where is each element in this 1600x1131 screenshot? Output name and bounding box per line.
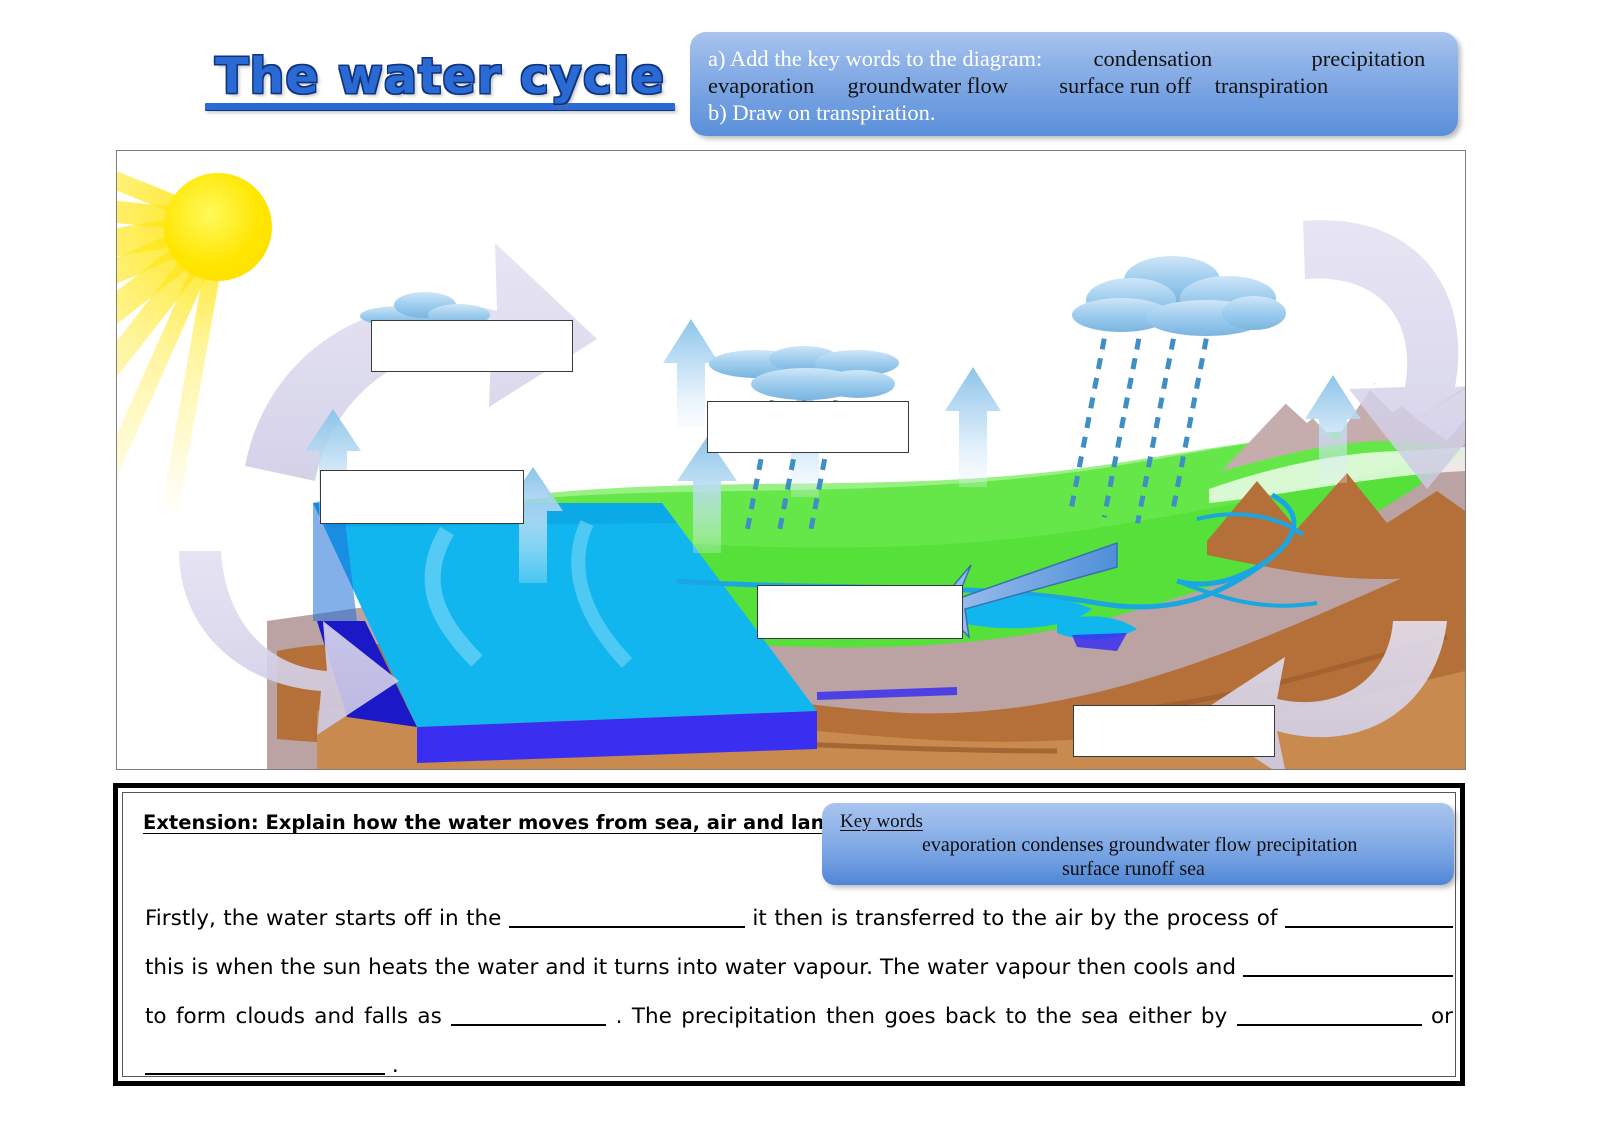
sun-icon [164, 173, 272, 281]
paragraph-segment-1: Firstly, the water starts off in the [145, 906, 501, 931]
keyword-transpiration: transpiration [1215, 73, 1329, 98]
extension-panel: Extension: Explain how the water moves f… [113, 783, 1465, 1086]
answer-blank-3[interactable] [1243, 975, 1453, 977]
extension-inner-border: Extension: Explain how the water moves f… [122, 792, 1456, 1077]
key-words-box: Key words evaporation condenses groundwa… [822, 803, 1454, 885]
task-a-label: a) Add the key words to the diagram: [708, 46, 1042, 71]
label-box-precipitation[interactable] [707, 401, 909, 453]
paragraph-segment-2: it then is transferred to the air by the… [752, 906, 1277, 931]
page-title: The water cycle [205, 52, 675, 110]
paragraph-segment-7: . [392, 1053, 399, 1078]
page-title-text: The water cycle [205, 52, 675, 101]
diagram-scene [117, 151, 1465, 769]
instruction-line-b: b) Draw on transpiration. [708, 99, 1442, 126]
key-words-row-1: evaporation condenses groundwater flow p… [840, 833, 1440, 857]
paragraph-segment-3: this is when the sun heats the water and… [145, 955, 1236, 980]
answer-blank-5[interactable] [1237, 1024, 1422, 1026]
extension-paragraph: Firstly, the water starts off in the it … [145, 894, 1453, 1090]
label-box-evaporation[interactable] [320, 470, 524, 524]
instruction-line-a: a) Add the key words to the diagram: con… [708, 45, 1442, 72]
cloud-mid [709, 346, 899, 402]
instructions-banner: a) Add the key words to the diagram: con… [690, 32, 1458, 136]
label-box-condensation-top[interactable] [371, 320, 573, 372]
keyword-groundwater-flow: groundwater flow [847, 73, 1008, 98]
label-box-groundwater-flow[interactable] [1073, 705, 1275, 757]
label-box-surface-runoff[interactable] [757, 585, 963, 639]
keyword-condensation: condensation [1094, 46, 1213, 71]
answer-blank-1[interactable] [509, 926, 745, 928]
instruction-line-keywords: evaporation groundwater flow surface run… [708, 72, 1442, 99]
paragraph-segment-5: . The precipitation then goes back to th… [616, 1004, 1228, 1029]
task-b-label: b) Draw on transpiration. [708, 100, 935, 125]
paragraph-segment-4: to form clouds and falls as [145, 1004, 442, 1029]
answer-blank-2[interactable] [1285, 926, 1453, 928]
key-words-title: Key words [840, 811, 1440, 833]
keyword-precipitation: precipitation [1312, 46, 1426, 71]
key-words-row-2: surface runoff sea [840, 857, 1440, 881]
paragraph-segment-6: or [1431, 1004, 1453, 1029]
water-cycle-diagram [116, 150, 1466, 770]
answer-blank-4[interactable] [451, 1024, 606, 1026]
cloud-rain [1072, 256, 1287, 340]
keyword-evaporation: evaporation [708, 73, 814, 98]
answer-blank-6[interactable] [145, 1073, 385, 1075]
keyword-surface-run-off: surface run off [1059, 73, 1191, 98]
